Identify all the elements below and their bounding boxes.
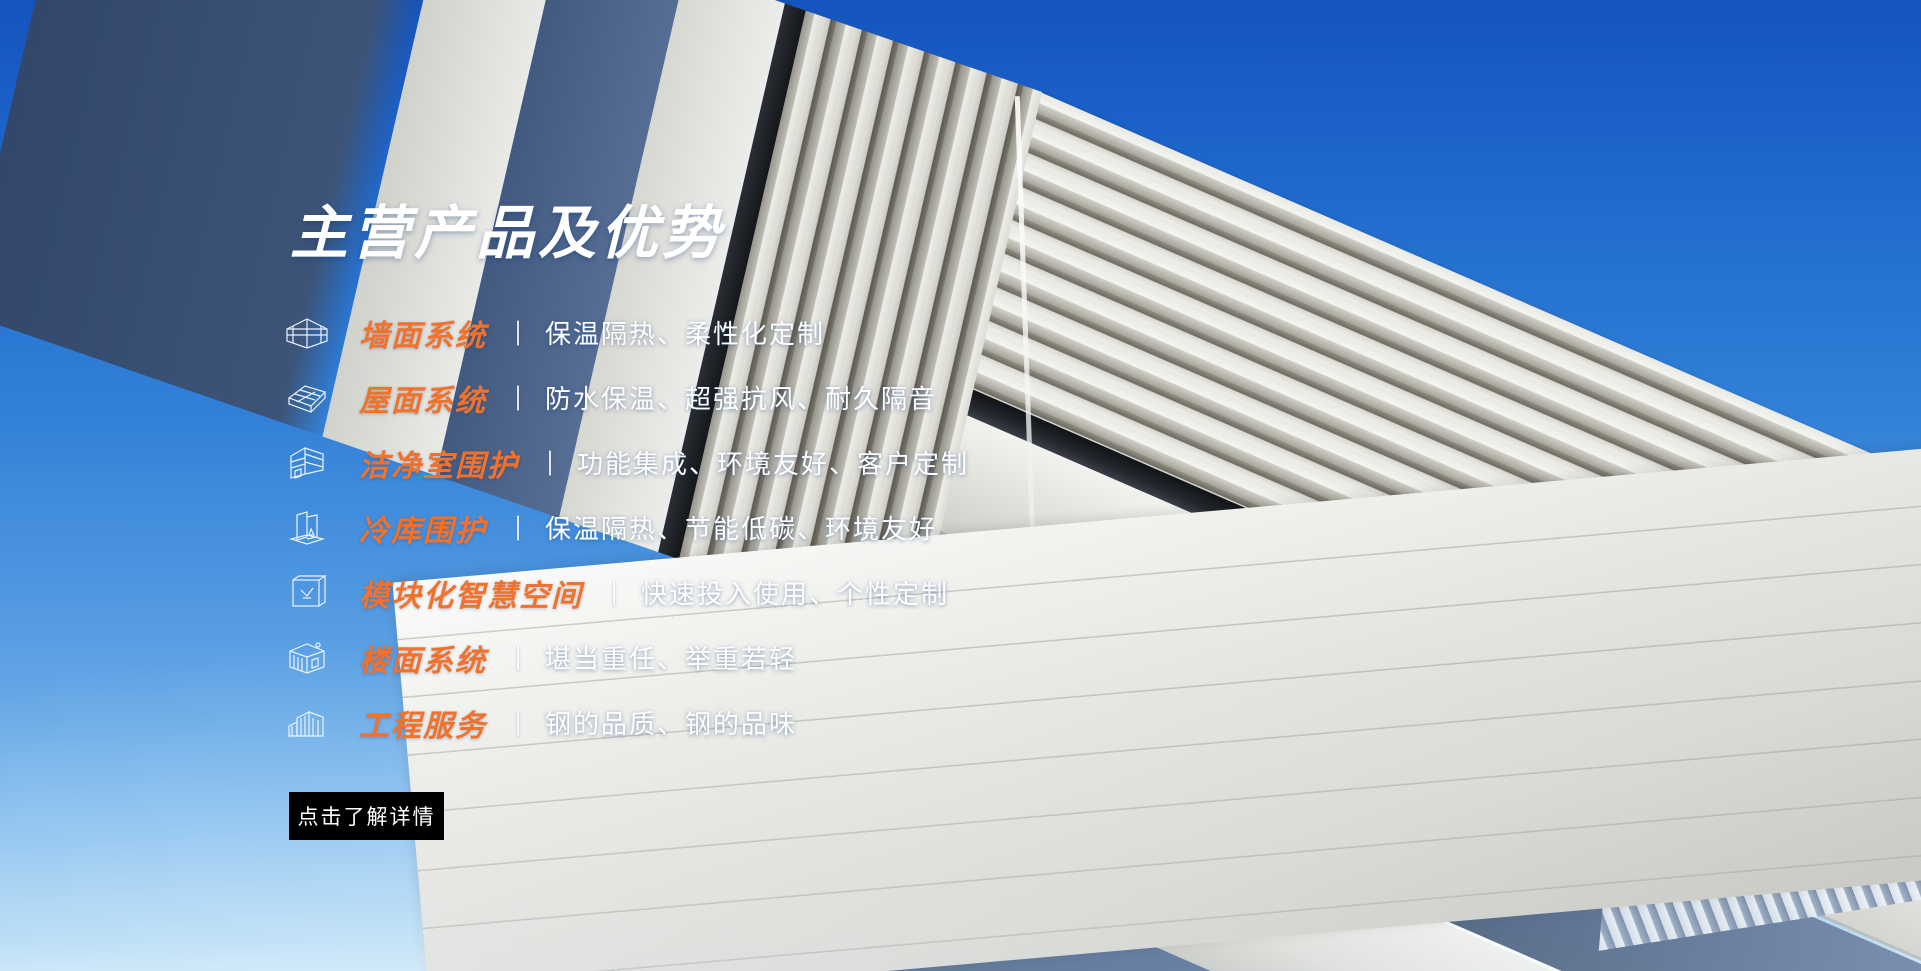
page-title: 主营产品及优势: [290, 205, 724, 263]
name-desc-separator: 丨: [511, 704, 525, 741]
product-description: 防水保温、超强抗风、耐久隔音: [545, 379, 937, 416]
product-name: 屋面系统: [359, 376, 487, 420]
product-name: 楼面系统: [359, 636, 487, 680]
product-row[interactable]: 冷库围护 丨 保温隔热、节能低碳、环境友好: [285, 495, 1105, 560]
product-row[interactable]: 墙面系统 丨 保温隔热、柔性化定制: [285, 300, 1105, 365]
name-desc-separator: 丨: [511, 639, 525, 676]
hero-banner: 主营产品及优势 墙面系统 丨 保温隔热、柔性化定制: [0, 0, 1921, 971]
product-name: 工程服务: [359, 701, 487, 745]
name-desc-separator: 丨: [511, 509, 525, 546]
name-desc-separator: 丨: [511, 314, 525, 351]
product-description: 功能集成、环境友好、客户定制: [577, 444, 969, 481]
product-row[interactable]: 屋面系统 丨 防水保温、超强抗风、耐久隔音: [285, 365, 1105, 430]
product-description: 保温隔热、柔性化定制: [545, 314, 825, 351]
roof-system-icon: [285, 380, 337, 416]
banner-content: 主营产品及优势 墙面系统 丨 保温隔热、柔性化定制: [0, 0, 1100, 971]
cleanroom-envelope-icon: [285, 444, 337, 482]
name-desc-separator: 丨: [607, 574, 621, 611]
wall-system-icon: [285, 315, 337, 351]
modular-smart-space-icon: [285, 574, 337, 612]
floor-system-icon: [285, 639, 337, 677]
product-description: 堪当重任、举重若轻: [545, 639, 797, 676]
product-row[interactable]: 楼面系统 丨 堪当重任、举重若轻: [285, 625, 1105, 690]
learn-more-button[interactable]: 点击了解详情: [289, 792, 444, 840]
product-row[interactable]: 工程服务 丨 钢的品质、钢的品味: [285, 690, 1105, 755]
product-name: 模块化智慧空间: [359, 571, 583, 615]
product-name: 洁净室围护: [359, 441, 519, 485]
product-description: 快速投入使用、个性定制: [641, 574, 949, 611]
product-list: 墙面系统 丨 保温隔热、柔性化定制 屋面系统 丨 防水保温、超强抗风、耐久隔音: [285, 300, 1105, 755]
engineering-service-icon: [285, 704, 337, 742]
product-name: 冷库围护: [359, 506, 487, 550]
product-description: 保温隔热、节能低碳、环境友好: [545, 509, 937, 546]
product-row[interactable]: 洁净室围护 丨 功能集成、环境友好、客户定制: [285, 430, 1105, 495]
product-row[interactable]: 模块化智慧空间 丨 快速投入使用、个性定制: [285, 560, 1105, 625]
product-description: 钢的品质、钢的品味: [545, 704, 797, 741]
name-desc-separator: 丨: [543, 444, 557, 481]
name-desc-separator: 丨: [511, 379, 525, 416]
cold-storage-envelope-icon: [285, 509, 337, 547]
product-name: 墙面系统: [359, 311, 487, 355]
